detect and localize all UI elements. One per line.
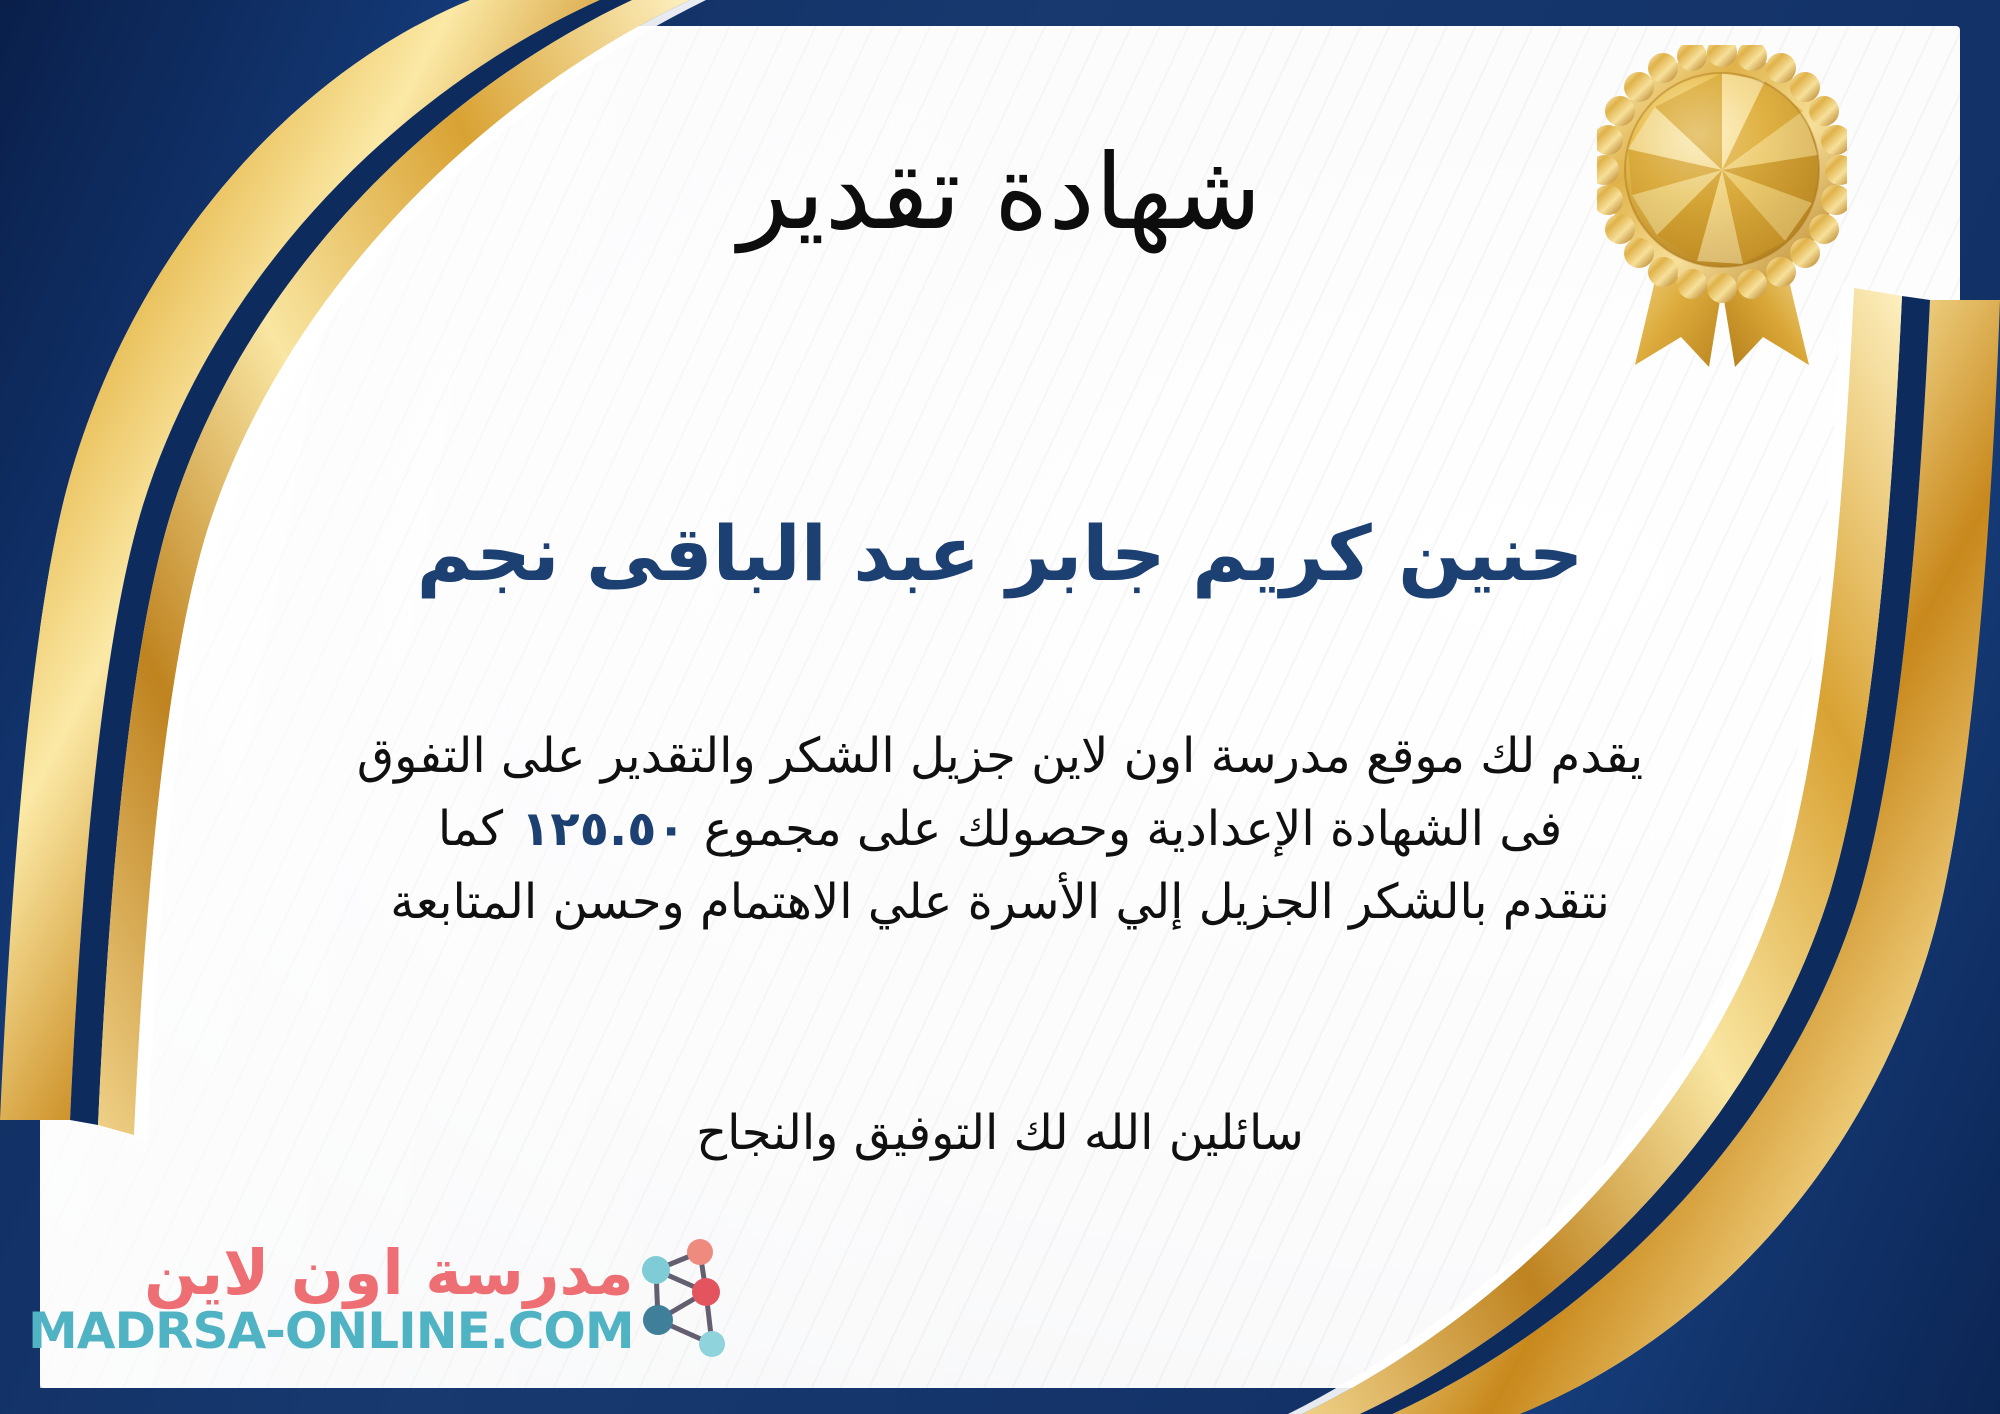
certificate-body: يقدم لك موقع مدرسة اون لاين جزيل الشكر و… — [60, 720, 1940, 939]
student-name: حنين كريم جابر عبد الباقى نجم — [60, 512, 1940, 596]
brand-logo-text: مدرسة اون لاين MADRSA-ONLINE.COM — [28, 1240, 634, 1358]
brand-name-arabic: مدرسة اون لاين — [28, 1240, 634, 1305]
page-title: شهادة تقدير — [60, 138, 1940, 247]
certificate-canvas: شهادة تقدير حنين كريم جابر عبد الباقى نج… — [0, 0, 2000, 1414]
body-line-2: فى الشهادة الإعدادية وحصولك على مجموع١٢٥… — [60, 793, 1940, 866]
brand-website-url: MADRSA-ONLINE.COM — [28, 1305, 634, 1358]
brand-logo[interactable]: مدرسة اون لاين MADRSA-ONLINE.COM — [28, 1214, 548, 1384]
body-line-2-prefix: فى الشهادة الإعدادية وحصولك على مجموع — [704, 801, 1562, 857]
grade-value: ١٢٥.٥٠ — [503, 801, 704, 857]
body-line-1: يقدم لك موقع مدرسة اون لاين جزيل الشكر و… — [60, 720, 1940, 793]
body-line-3: نتقدم بالشكر الجزيل إلي الأسرة علي الاهت… — [60, 866, 1940, 939]
body-line-2-suffix: كما — [438, 801, 503, 857]
network-nodes-icon — [634, 1234, 754, 1364]
closing-line: سائلين الله لك التوفيق والنجاح — [60, 1105, 1940, 1161]
